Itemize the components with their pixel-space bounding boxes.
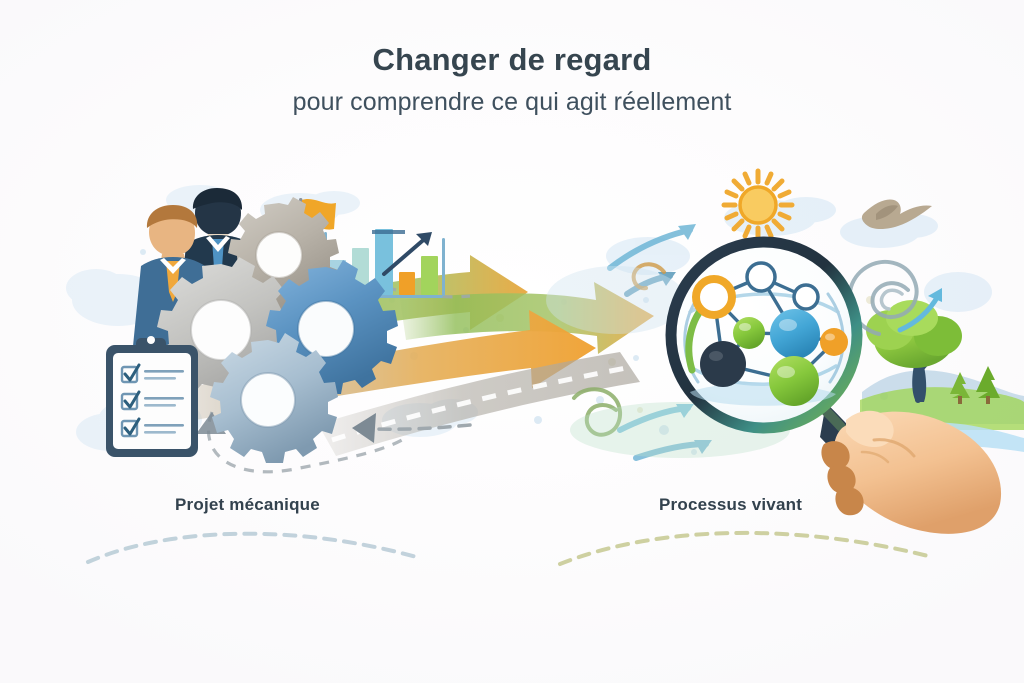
dashed-arc-right [560, 533, 928, 564]
caption-left: Projet mécanique [175, 495, 320, 515]
caption-right: Processus vivant [659, 495, 802, 515]
dashed-arc-left [88, 534, 420, 562]
illustration-canvas: Changer de regard pour comprendre ce qui… [0, 0, 1024, 683]
dashed-arcs-layer [0, 0, 1024, 683]
